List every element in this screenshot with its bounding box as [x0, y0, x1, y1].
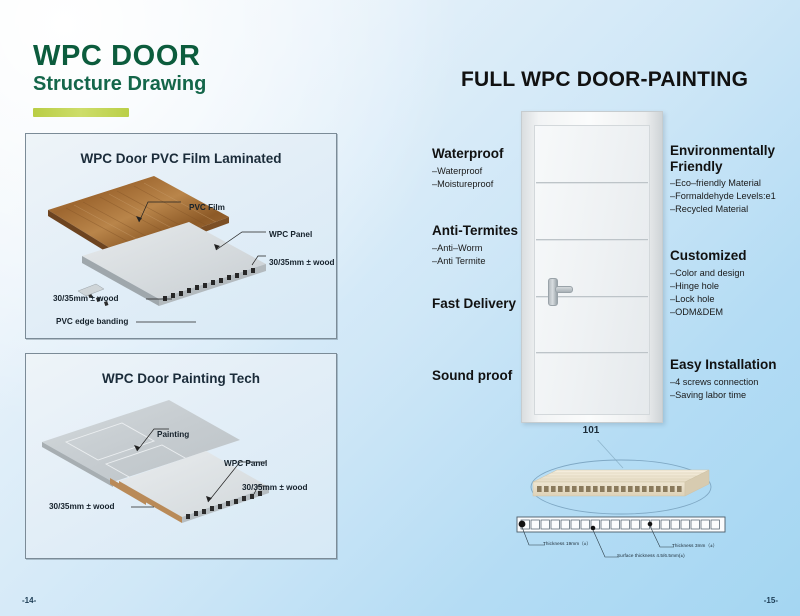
feature-environmentally-friendly: Environmentally Friendly –Eco–friendly M… [670, 143, 800, 217]
thickness-label-surface: Surface thickness 4.5/6.5mm(±) [617, 553, 685, 558]
door-model-code: 101 [521, 425, 661, 436]
feature-heading: Waterproof [432, 146, 582, 162]
callout-wpc-panel: WPC Panel [224, 459, 267, 468]
diagram-box-pvc-film-laminated: WPC Door PVC Film Laminated [25, 133, 337, 339]
feature-fast-delivery: Fast Delivery [432, 296, 582, 315]
feature-heading: Environmentally Friendly [670, 143, 800, 174]
callout-wood-thickness-left: 30/35mm ± wood [49, 502, 114, 511]
feature-customized: Customized –Color and design –Hinge hole… [670, 248, 800, 319]
feature-item: –Lock hole [670, 293, 800, 306]
feature-heading: Fast Delivery [432, 296, 582, 312]
diagram-box-painting-tech: WPC Door Painting Tech [25, 353, 337, 559]
feature-item: –Eco–friendly Material [670, 177, 800, 190]
feature-item: –Moistureproof [432, 178, 582, 191]
feature-items: –Anti–Worm –Anti Termite [432, 242, 582, 268]
feature-heading: Easy Installation [670, 357, 800, 373]
callout-pvc-edge-banding: PVC edge banding [56, 317, 128, 326]
panel-detail-callout: Thickness 19mm（±） Surface thickness 4.5/… [495, 440, 795, 575]
feature-waterproof: Waterproof –Waterproof –Moistureproof [432, 146, 582, 191]
feature-items: –Waterproof –Moistureproof [432, 165, 582, 191]
page-subtitle: Structure Drawing [33, 74, 206, 94]
feature-item: –4 screws connection [670, 376, 800, 389]
thickness-label-19mm: Thickness 19mm（±） [543, 541, 591, 547]
feature-heading: Customized [670, 248, 800, 264]
feature-item: –Anti–Worm [432, 242, 582, 255]
feature-item: –Anti Termite [432, 255, 582, 268]
page-title: WPC DOOR [33, 42, 201, 71]
feature-item: –Hinge hole [670, 280, 800, 293]
callout-painting: Painting [157, 430, 189, 439]
feature-sound-proof: Sound proof [432, 368, 582, 387]
feature-item: –ODM&DEM [670, 306, 800, 319]
callout-wood-thickness-left: 30/35mm ± wood [53, 294, 118, 303]
page-number-left: -14- [22, 596, 36, 605]
feature-heading: Anti-Termites [432, 223, 582, 239]
page-number-right: -15- [764, 596, 778, 605]
feature-items: –Color and design –Hinge hole –Lock hole… [670, 267, 800, 319]
painting-tech-illustration [26, 354, 336, 558]
callout-wpc-panel: WPC Panel [269, 230, 312, 239]
feature-item: –Waterproof [432, 165, 582, 178]
feature-item: –Color and design [670, 267, 800, 280]
callout-pvc-film: PVC Film [189, 203, 225, 212]
feature-anti-termites: Anti-Termites –Anti–Worm –Anti Termite [432, 223, 582, 268]
feature-heading: Sound proof [432, 368, 582, 384]
accent-bar [33, 108, 129, 117]
feature-item: –Recycled Material [670, 203, 800, 216]
feature-item: –Saving labor time [670, 389, 800, 402]
feature-item: –Formaldehyde Levels:e1 [670, 190, 800, 203]
thickness-label-3mm: Thickness 3mm（±） [672, 543, 717, 549]
callout-wood-thickness-right: 30/35mm ± wood [242, 483, 307, 492]
feature-items: –4 screws connection –Saving labor time [670, 376, 800, 402]
section-title-full-wpc-door-painting: FULL WPC DOOR-PAINTING [461, 68, 748, 92]
callout-wood-thickness-right: 30/35mm ± wood [269, 258, 334, 267]
catalog-page: WPC DOOR Structure Drawing WPC Door PVC … [0, 0, 800, 616]
feature-easy-installation: Easy Installation –4 screws connection –… [670, 357, 800, 402]
feature-items: –Eco–friendly Material –Formaldehyde Lev… [670, 177, 800, 216]
door-groove [536, 352, 648, 354]
